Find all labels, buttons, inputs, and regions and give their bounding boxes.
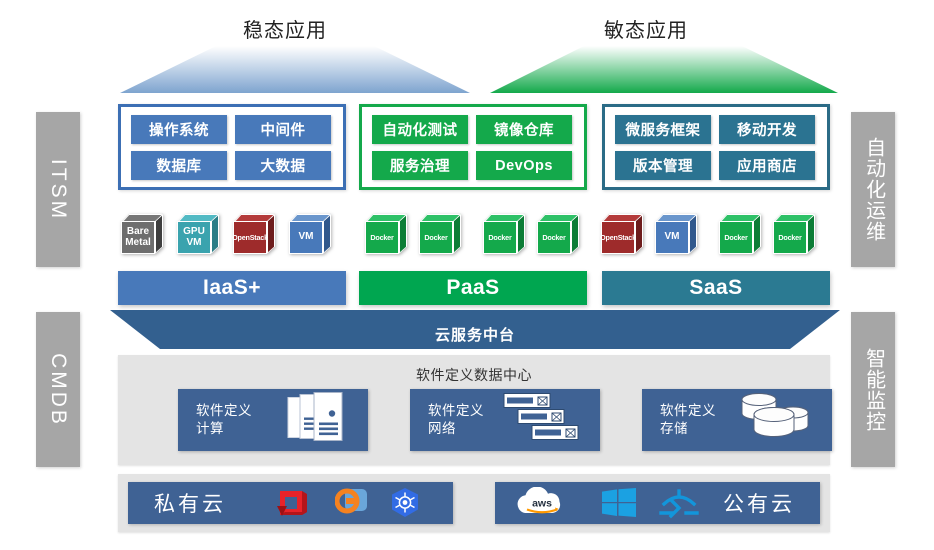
chip-label: 大数据 [261, 155, 306, 176]
sddc-card-label: 软件定义 网络 [428, 402, 484, 438]
azure-logo [602, 488, 636, 518]
sddc-title: 软件定义数据中心 [118, 365, 830, 385]
service-bar-label: IaaS+ [203, 276, 261, 300]
servers-icon [286, 392, 352, 449]
sddc-card-label: 软件定义 存储 [660, 402, 716, 438]
aliyun-logo [658, 486, 700, 520]
aws-logo: aws [511, 487, 573, 519]
kubernetes-logo [389, 487, 421, 519]
chip-label: 自动化测试 [383, 119, 458, 140]
cube-bare-metal: Bare Metal [121, 214, 163, 254]
sddc-card-network[interactable]: 软件定义 网络 [410, 389, 600, 451]
cube-label: Docker [724, 234, 747, 241]
sddc-card-label: 软件定义 计算 [196, 402, 252, 438]
cloud-service-platform: 云服务中台 [110, 310, 840, 355]
cube-label: OpenStack [600, 234, 636, 241]
chip-label: DevOps [495, 158, 553, 174]
cube-label: VM [665, 232, 680, 242]
private-cloud-band[interactable]: 私有云 [128, 482, 453, 524]
cube-vm-iaas: VM [289, 214, 331, 254]
chip-automated-testing[interactable]: 自动化测试 [372, 115, 468, 144]
svg-text:aws: aws [532, 498, 552, 510]
private-cloud-label: 私有云 [154, 488, 226, 518]
sidebar-item-itsm[interactable]: ITSM [36, 112, 80, 267]
cube-docker-paas-4: Docker [537, 214, 579, 254]
chip-label: 移动开发 [737, 119, 797, 140]
architecture-diagram: 稳态应用 敏态应用 ITSM CMDB 自动化运维 智能监控 操作系统 中间 [0, 0, 934, 550]
cube-label: Docker [370, 234, 393, 241]
cmdb-label: CMDB [46, 353, 70, 427]
cube-openstack-saas: OpenStack [601, 214, 643, 254]
chip-microservice-framework[interactable]: 微服务框架 [615, 115, 711, 144]
chip-mobile-development[interactable]: 移动开发 [719, 115, 815, 144]
chip-devops[interactable]: DevOps [476, 151, 572, 180]
cube-label: Docker [778, 234, 801, 241]
cube-docker-paas-2: Docker [419, 214, 461, 254]
saas-apps-group: 微服务框架 移动开发 版本管理 应用商店 [602, 104, 830, 190]
vmware-logo [335, 487, 369, 519]
chip-label: 中间件 [261, 119, 306, 140]
stable-apps-group: 操作系统 中间件 数据库 大数据 [118, 104, 346, 190]
chip-label: 数据库 [157, 155, 202, 176]
chip-image-registry[interactable]: 镜像仓库 [476, 115, 572, 144]
sddc-card-storage[interactable]: 软件定义 存储 [642, 389, 832, 451]
stable-apps-label: 稳态应用 [243, 14, 327, 43]
chip-label: 操作系统 [149, 119, 209, 140]
cube-label: Docker [424, 234, 447, 241]
public-cloud-band[interactable]: aws [495, 482, 820, 524]
itsm-label: ITSM [46, 158, 70, 220]
agile-apps-trapezoid [490, 46, 838, 94]
stable-apps-trapezoid [120, 46, 470, 94]
chip-operating-system[interactable]: 操作系统 [131, 115, 227, 144]
cube-openstack-iaas: OpenStack [233, 214, 275, 254]
cube-label: GPU VM [178, 227, 210, 247]
smart-monitoring-label: 智能监控 [862, 348, 883, 432]
chip-label: 应用商店 [737, 155, 797, 176]
cube-label: Docker [542, 234, 565, 241]
service-bar-label: SaaS [689, 276, 742, 300]
chip-label: 服务治理 [390, 155, 450, 176]
chip-label: 镜像仓库 [494, 119, 554, 140]
chip-service-governance[interactable]: 服务治理 [372, 151, 468, 180]
cube-docker-paas-3: Docker [483, 214, 525, 254]
automated-ops-label: 自动化运维 [862, 137, 883, 242]
chip-middleware[interactable]: 中间件 [235, 115, 331, 144]
chip-database[interactable]: 数据库 [131, 151, 227, 180]
service-bar-label: PaaS [446, 276, 499, 300]
chip-app-store[interactable]: 应用商店 [719, 151, 815, 180]
switches-icon [502, 391, 584, 450]
sidebar-item-smart-monitoring[interactable]: 智能监控 [851, 312, 895, 467]
cube-docker-saas-1: Docker [719, 214, 761, 254]
cube-label: VM [299, 232, 314, 242]
storage-icon [738, 391, 816, 450]
cube-vm-saas: VM [655, 214, 697, 254]
cube-label: OpenStack [232, 234, 268, 241]
sidebar-item-cmdb[interactable]: CMDB [36, 312, 80, 467]
sddc-panel: 软件定义数据中心 软件定义 计算 软件定义 网络 [118, 355, 830, 465]
cube-label: Bare Metal [122, 227, 154, 247]
sddc-card-compute[interactable]: 软件定义 计算 [178, 389, 368, 451]
cube-docker-paas-1: Docker [365, 214, 407, 254]
cloud-strip: 私有云 [118, 474, 830, 532]
sidebar-item-automated-ops[interactable]: 自动化运维 [851, 112, 895, 267]
chip-label: 版本管理 [633, 155, 693, 176]
agile-apps-label: 敏态应用 [604, 14, 688, 43]
service-bar-paas[interactable]: PaaS [359, 271, 587, 305]
service-bar-saas[interactable]: SaaS [602, 271, 830, 305]
chip-big-data[interactable]: 大数据 [235, 151, 331, 180]
chip-version-management[interactable]: 版本管理 [615, 151, 711, 180]
openstack-logo [276, 488, 310, 518]
public-cloud-label: 公有云 [723, 488, 795, 518]
cube-gpu-vm: GPU VM [177, 214, 219, 254]
chip-label: 微服务框架 [626, 119, 701, 140]
paas-apps-group: 自动化测试 镜像仓库 服务治理 DevOps [359, 104, 587, 190]
cloud-service-platform-label: 云服务中台 [110, 324, 840, 345]
cube-docker-saas-2: Docker [773, 214, 815, 254]
service-bar-iaas[interactable]: IaaS+ [118, 271, 346, 305]
cube-label: Docker [488, 234, 511, 241]
